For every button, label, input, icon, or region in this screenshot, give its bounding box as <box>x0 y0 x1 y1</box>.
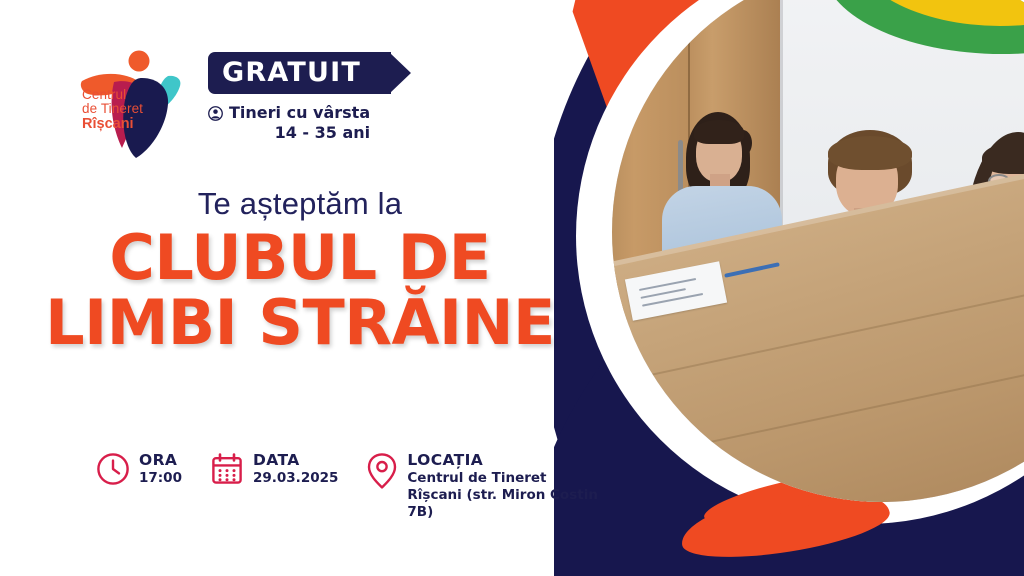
right-decorative-stage <box>554 0 1024 576</box>
logo-wordmark: Centrul de Tineret Rîșcani <box>82 88 143 131</box>
event-details-bar: ORA 17:00 DATA 29.03.2025 <box>96 452 620 520</box>
headline-line-2: LIMBI STRĂINE <box>0 291 600 354</box>
logo-line-2: de Tineret <box>82 102 143 116</box>
detail-time-label: ORA <box>139 452 182 470</box>
detail-date-value: 29.03.2025 <box>253 470 338 487</box>
detail-date-label: DATA <box>253 452 338 470</box>
headline-block: Te așteptăm la CLUBUL DE LIMBI STRĂINE <box>0 186 600 354</box>
detail-time-value: 17:00 <box>139 470 182 487</box>
detail-date: DATA 29.03.2025 <box>210 452 338 487</box>
free-badge-block: GRATUIT Tineri cu vârsta 14 - 35 ani <box>208 48 391 143</box>
audience-line: Tineri cu vârsta 14 - 35 ani <box>208 103 391 143</box>
logo-line-1: Centrul <box>82 88 143 102</box>
detail-location-value: Centrul de Tineret <box>407 470 620 487</box>
meeting-room-photo <box>612 0 1024 502</box>
audience-text: Tineri cu vârsta 14 - 35 ani <box>229 103 370 143</box>
user-icon <box>208 106 223 121</box>
brand-row: Centrul de Tineret Rîșcani GRATUIT Tiner… <box>76 48 391 160</box>
detail-location-value-2: Rîșcani (str. Miron Costin 7B) <box>407 487 620 521</box>
poster-canvas: Centrul de Tineret Rîșcani GRATUIT Tiner… <box>0 0 1024 576</box>
left-content: Centrul de Tineret Rîșcani GRATUIT Tiner… <box>0 0 620 576</box>
headline-line-1: CLUBUL DE <box>0 226 600 289</box>
clock-icon <box>96 452 130 486</box>
location-pin-icon <box>366 452 398 490</box>
audience-line-2: 14 - 35 ani <box>229 123 370 143</box>
organization-logo: Centrul de Tineret Rîșcani <box>76 48 186 160</box>
detail-location-label: LOCAȚIA <box>407 452 620 470</box>
detail-time: ORA 17:00 <box>96 452 182 487</box>
detail-location: LOCAȚIA Centrul de Tineret Rîșcani (str.… <box>366 452 620 520</box>
headline-pretext: Te așteptăm la <box>0 186 600 222</box>
calendar-icon <box>210 452 244 486</box>
gratuit-badge: GRATUIT <box>208 52 391 94</box>
wall-mural <box>822 0 1024 66</box>
logo-line-3: Rîșcani <box>82 117 143 132</box>
audience-line-1: Tineri cu vârsta <box>229 103 370 123</box>
